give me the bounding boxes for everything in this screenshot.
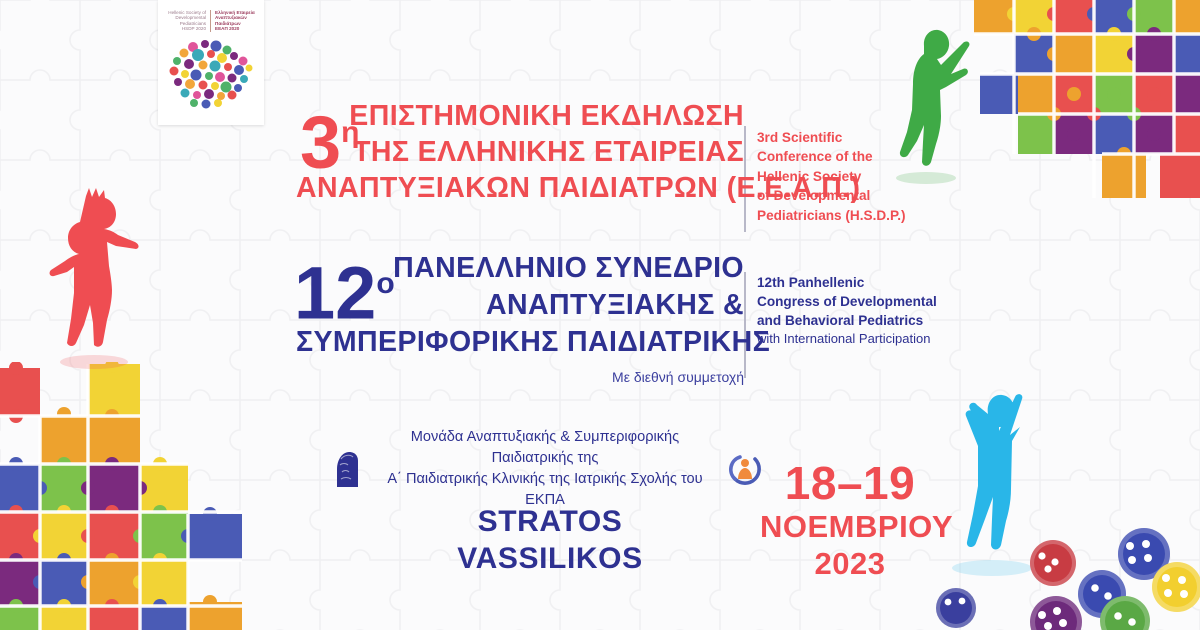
event-blue-en-line-2: Congress of Developmental	[757, 293, 952, 312]
event-blue-title-english: 12th Panhellenic Congress of Development…	[757, 274, 952, 349]
circular-person-logo-icon	[728, 452, 762, 486]
society-logo-card: Hellenic Society of Developmental Pediat…	[158, 0, 264, 125]
affiliation-line-1: Μονάδα Αναπτυξιακής & Συμπεριφορικής Παι…	[368, 427, 722, 469]
event-blue-line-2: ΑΝΑΠΤΥΞΙΑΚΗΣ &	[296, 287, 744, 324]
event-blue-line-3: ΣΥΜΠΕΡΙΦΟΡΙΚΗΣ ΠΑΙΔΙΑΤΡΙΚΗΣ	[296, 324, 744, 361]
button-deco-purple	[1030, 596, 1082, 630]
event-red-title-english: 3rd Scientific Conference of the Helleni…	[757, 128, 937, 225]
society-logo-greek: Ελληνική Εταιρεία Αναπτυξιακών Παιδιάτρω…	[210, 10, 258, 32]
button-deco-blue-small	[936, 588, 976, 628]
event-red-en-line-5: Pediatricians (H.S.D.P.)	[757, 206, 937, 225]
affiliation-text: Μονάδα Αναπτυξιακής & Συμπεριφορικής Παι…	[368, 427, 722, 511]
event-red-en-line-1: 3rd Scientific	[757, 128, 937, 147]
event-blue-line-1: ΠΑΝΕΛΛΗΝΙΟ ΣΥΝΕΔΡΙΟ	[296, 250, 744, 287]
button-deco-yellow	[1152, 562, 1200, 612]
event-red-line-1: ΕΠΙΣΤΗΜΟΝΙΚΗ ΕΚΔΗΛΩΣΗ	[296, 98, 744, 134]
date-year: 2023	[760, 545, 940, 582]
event-blue-en-subtitle: with International Participation	[757, 330, 952, 349]
child-silhouette-red	[46, 186, 156, 371]
event-blue-title: ΠΑΝΕΛΛΗΝΙΟ ΣΥΝΕΔΡΙΟ ΑΝΑΠΤΥΞΙΑΚΗΣ & ΣΥΜΠΕ…	[296, 250, 744, 361]
colorful-dot-brain-icon	[165, 37, 257, 111]
event-red-en-line-2: Conference of the	[757, 147, 937, 166]
event-blue-en-line-1: 12th Panhellenic	[757, 274, 952, 293]
venue-name: STRATOS VASSILIKOS	[420, 503, 680, 577]
button-deco-red	[1030, 540, 1076, 586]
society-logo-english: Hellenic Society of Developmental Pediat…	[164, 10, 210, 32]
date-day-range: 18–19	[760, 458, 940, 508]
conference-poster: Hellenic Society of Developmental Pediat…	[0, 0, 1200, 630]
athena-head-icon	[332, 451, 362, 487]
event-blue-subtitle: Με διεθνή συμμετοχή	[440, 369, 744, 385]
venue-line-1: STRATOS	[420, 503, 680, 540]
event-red-en-line-4: of Developmental	[757, 186, 937, 205]
affiliation-row: Μονάδα Αναπτυξιακής & Συμπεριφορικής Παι…	[332, 427, 762, 511]
event-red-line-3: ΑΝΑΠΤΥΞΙΑΚΩΝ ΠΑΙΔΙΑΤΡΩΝ (Ε.Ε.Α.Π.)	[296, 170, 744, 206]
venue-line-2: VASSILIKOS	[420, 540, 680, 577]
event-red-line-2: ΤΗΣ ΕΛΛΗΝΙΚΗΣ ΕΤΑΙΡΕΙΑΣ	[296, 134, 744, 170]
society-logo-text: Hellenic Society of Developmental Pediat…	[164, 10, 258, 32]
divider-blue-block	[744, 272, 746, 378]
puzzle-cluster-bottom-left	[0, 362, 242, 630]
event-blue-en-line-3: and Behavioral Pediatrics	[757, 312, 952, 331]
event-red-en-line-3: Hellenic Society	[757, 167, 937, 186]
event-date: 18–19 ΝΟΕΜΒΡΙΟΥ 2023	[760, 458, 940, 582]
date-month: ΝΟΕΜΒΡΙΟΥ	[760, 508, 940, 545]
event-red-title: ΕΠΙΣΤΗΜΟΝΙΚΗ ΕΚΔΗΛΩΣΗ ΤΗΣ ΕΛΛΗΝΙΚΗΣ ΕΤΑΙ…	[296, 98, 744, 206]
